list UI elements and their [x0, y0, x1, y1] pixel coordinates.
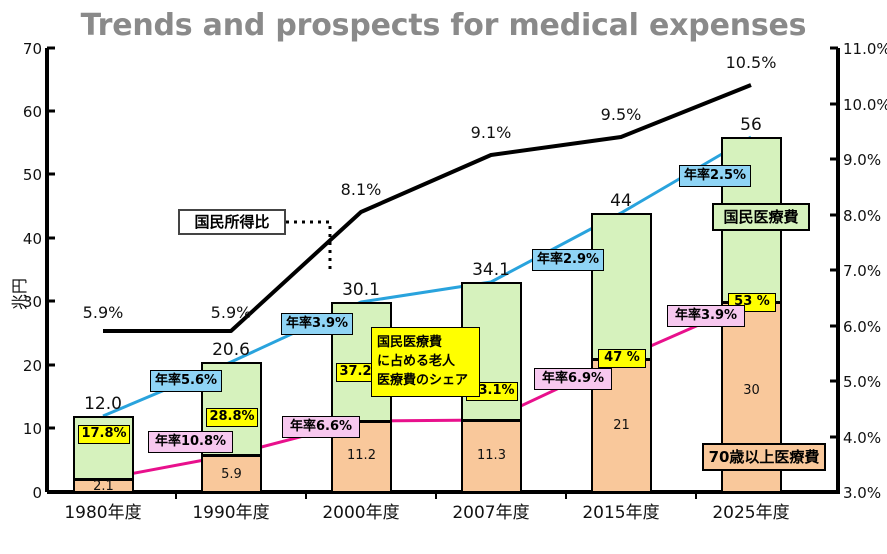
y-tick-10: 10 — [8, 420, 42, 438]
y2-tick-8: 8.0% — [843, 207, 881, 225]
chart-title: Trends and prospects for medical expense… — [0, 8, 887, 43]
callout-national-income-ratio: 国民所得比 — [178, 209, 286, 235]
growth-total-1990-2000: 年率3.9% — [281, 313, 353, 335]
legend-total-medical-expense: 国民医療費 — [712, 203, 810, 231]
y-tick-40: 40 — [8, 230, 42, 248]
y2-tick-5: 5.0% — [843, 373, 881, 391]
growth-elderly-2007-2015: 年率6.9% — [534, 368, 612, 390]
y2-tick-9: 9.0% — [843, 151, 881, 169]
chart-root: Trends and prospects for medical expense… — [0, 0, 887, 554]
bar-elderly-value-2007: 11.3 — [461, 448, 522, 463]
right-axis — [830, 48, 838, 492]
growth-elderly-2015-2025: 年率3.9% — [667, 305, 745, 327]
x-tick-2015: 2015年度 — [561, 498, 681, 523]
x-tick-1980: 1980年度 — [43, 498, 163, 523]
share-label-1990: 28.8% — [206, 408, 258, 427]
bar-elderly-value-2015: 21 — [591, 418, 652, 433]
x-tick-2025: 2025年度 — [691, 498, 811, 523]
line-value-2000: 8.1% — [321, 180, 401, 199]
bar-total-2015 — [591, 213, 652, 360]
y-tick-60: 60 — [8, 103, 42, 121]
y2-tick-4: 4.0% — [843, 429, 881, 447]
callout-share-note-line-2: に占める老人 — [377, 350, 474, 369]
bar-total-value-1990: 20.6 — [171, 340, 291, 360]
y2-tick-11: 11.0% — [843, 40, 887, 58]
x-tick-2007: 2007年度 — [431, 498, 551, 523]
legend-elderly-medical-expense: 70歳以上医療費 — [702, 443, 826, 471]
y2-tick-7: 7.0% — [843, 262, 881, 280]
callout-share-note-line-1: 国民医療費 — [377, 331, 474, 350]
leader-income-ratio — [286, 222, 330, 271]
y2-tick-10: 10.0% — [843, 96, 887, 114]
y2-tick-6: 6.0% — [843, 318, 881, 336]
bar-elderly-value-2000: 11.2 — [331, 448, 392, 463]
callout-share-note: 国民医療費 に占める老人 医療費のシェア — [371, 327, 480, 397]
share-label-1980: 17.8% — [78, 425, 130, 444]
growth-elderly-1980-1990: 年率10.8% — [148, 431, 233, 453]
y-tick-0: 0 — [8, 484, 42, 502]
line-value-1990: 5.9% — [191, 303, 271, 322]
bar-elderly-value-1990: 5.9 — [201, 467, 262, 482]
left-axis — [47, 48, 55, 492]
bar-total-value-1980: 12.0 — [43, 394, 163, 414]
y-tick-50: 50 — [8, 166, 42, 184]
bar-total-value-2000: 30.1 — [301, 280, 421, 300]
bar-elderly-value-1980: 2.1 — [73, 479, 134, 494]
x-tick-1990: 1990年度 — [171, 498, 291, 523]
bar-elderly-value-2025: 30 — [721, 383, 782, 398]
y-tick-20: 20 — [8, 357, 42, 375]
growth-total-2007-2015: 年率2.9% — [532, 249, 604, 271]
y2-tick-3: 3.0% — [843, 484, 881, 502]
bar-total-value-2015: 44 — [561, 191, 681, 211]
x-tick-2000: 2000年度 — [301, 498, 421, 523]
share-label-2015: 47 % — [598, 349, 646, 368]
y-tick-70: 70 — [8, 40, 42, 58]
growth-elderly-1990-2000: 年率6.6% — [282, 416, 360, 438]
y-tick-30: 30 — [8, 293, 42, 311]
callout-share-note-line-3: 医療費のシェア — [377, 369, 474, 388]
bar-total-value-2025: 56 — [691, 115, 811, 135]
line-value-2025: 10.5% — [711, 53, 791, 72]
growth-total-2015-2025: 年率2.5% — [679, 165, 751, 187]
line-value-2007: 9.1% — [451, 123, 531, 142]
line-value-2015: 9.5% — [581, 105, 661, 124]
line-value-1980: 5.9% — [63, 303, 143, 322]
growth-total-1980-1990: 年率5.6% — [150, 370, 222, 392]
